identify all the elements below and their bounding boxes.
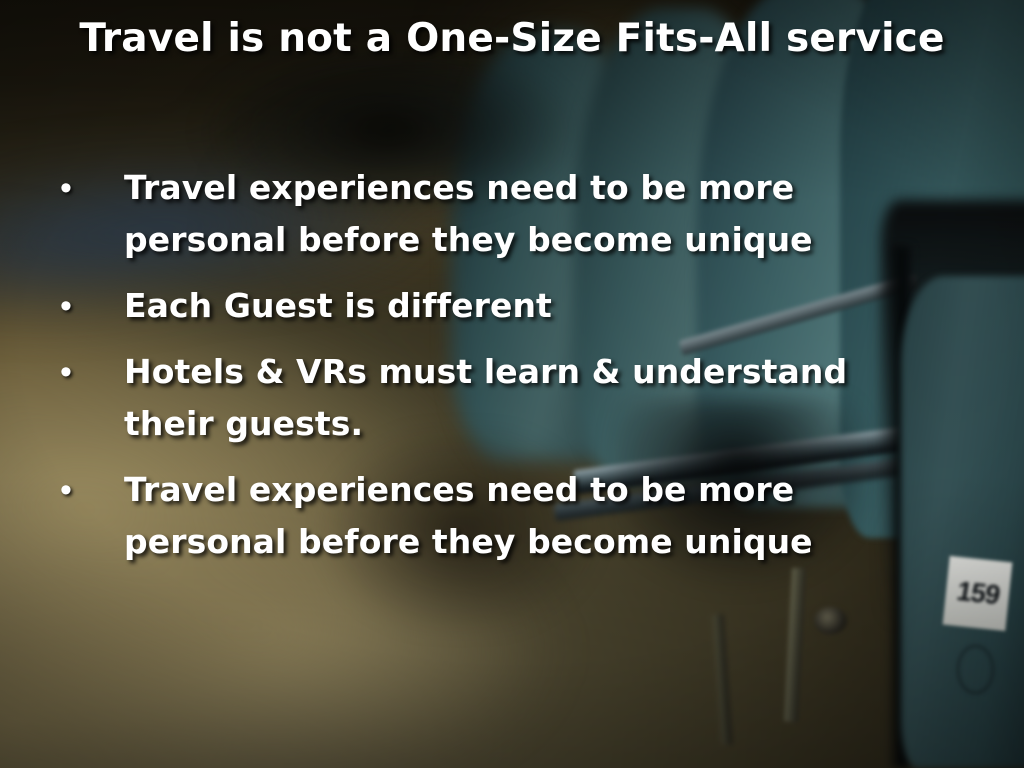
bullet-text-4: Travel experiences need to be more perso…: [124, 464, 894, 568]
bullet-text-3: Hotels & VRs must learn & understand the…: [124, 346, 894, 450]
bullet-item-3: • Hotels & VRs must learn & understand t…: [52, 346, 932, 450]
bullet-marker-icon: •: [52, 280, 124, 332]
bullet-text-1: Travel experiences need to be more perso…: [124, 162, 894, 266]
bullet-text-2: Each Guest is different: [124, 280, 894, 332]
slide-title: Travel is not a One-Size Fits-All servic…: [0, 18, 1024, 61]
bullet-item-4: • Travel experiences need to be more per…: [52, 464, 932, 568]
bullet-item-1: • Travel experiences need to be more per…: [52, 162, 932, 266]
bullet-item-2: • Each Guest is different: [52, 280, 932, 332]
bullet-marker-icon: •: [52, 346, 124, 398]
slide-content: Travel is not a One-Size Fits-All servic…: [0, 0, 1024, 768]
slide-root: 159 Travel is not a One-Size Fits-All se…: [0, 0, 1024, 768]
bullet-marker-icon: •: [52, 162, 124, 214]
bullet-marker-icon: •: [52, 464, 124, 516]
bullet-list: • Travel experiences need to be more per…: [52, 162, 932, 582]
